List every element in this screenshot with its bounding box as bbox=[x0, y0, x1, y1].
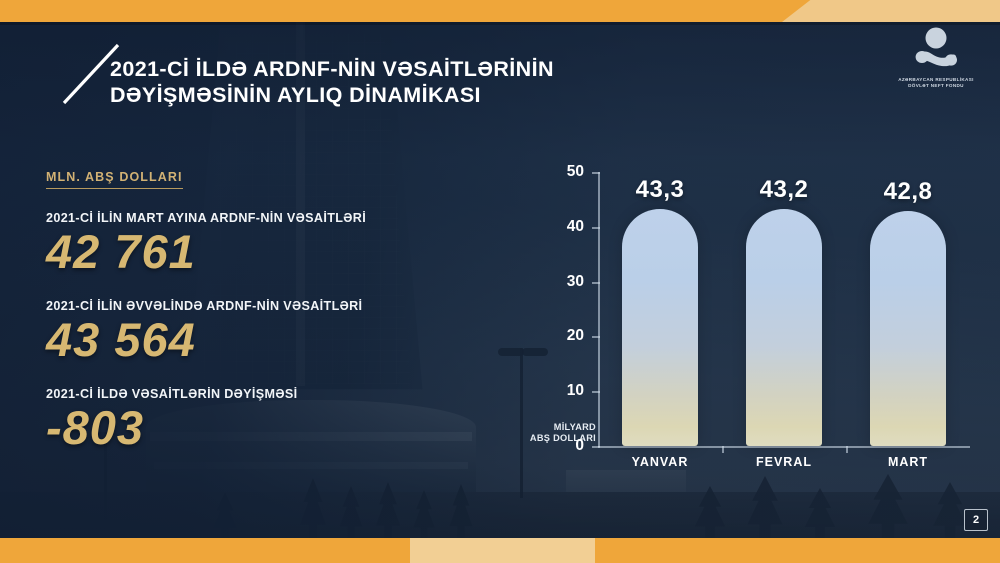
y-axis-tick bbox=[592, 227, 600, 229]
bar-column bbox=[870, 172, 946, 446]
x-axis-line bbox=[598, 446, 970, 448]
y-axis-line bbox=[598, 172, 600, 447]
top-bar-shadow bbox=[0, 22, 1000, 25]
x-axis-tick bbox=[722, 446, 724, 453]
page-title-line2: DƏYİŞMƏSİNİN AYLIQ DİNAMİKASI bbox=[110, 82, 610, 108]
logo-text: AZƏRBAYCAN RESPUBLİKASI DÖVLƏT NEFT FOND… bbox=[884, 77, 988, 90]
bottom-accent-bar bbox=[0, 538, 1000, 563]
bar-value-label: 43,3 bbox=[605, 176, 715, 204]
y-axis-tick-label: 0 bbox=[538, 437, 584, 455]
top-accent-bar-tan-segment bbox=[782, 0, 1000, 22]
bar bbox=[746, 209, 822, 446]
y-axis-tick-label: 10 bbox=[538, 382, 584, 400]
y-axis-tick-label: 20 bbox=[538, 327, 584, 345]
sofaz-emblem-icon bbox=[884, 26, 988, 70]
bar-value-label: 43,2 bbox=[729, 176, 839, 204]
stat-block: 2021-Cİ İLDƏ VƏSAİTLƏRİN DƏYİŞMƏSİ -803 bbox=[46, 387, 466, 453]
stat-value: 43 564 bbox=[46, 315, 466, 365]
stat-block: 2021-Cİ İLİN ƏVVƏLİNDƏ ARDNF-NİN VƏSAİTL… bbox=[46, 299, 466, 365]
page-number-badge: 2 bbox=[964, 509, 988, 531]
top-accent-bar bbox=[0, 0, 1000, 22]
stat-value: 42 761 bbox=[46, 227, 466, 277]
unit-label: MLN. ABŞ DOLLARI bbox=[46, 170, 183, 189]
x-axis-tick bbox=[846, 446, 848, 453]
bar-column bbox=[746, 172, 822, 446]
stat-label: 2021-Cİ İLİN ƏVVƏLİNDƏ ARDNF-NİN VƏSAİTL… bbox=[46, 299, 466, 313]
stat-value: -803 bbox=[46, 403, 466, 453]
slide: 2021-Cİ İLDƏ ARDNF-NİN VƏSAİTLƏRİNİN DƏY… bbox=[0, 0, 1000, 563]
y-axis-tick bbox=[592, 391, 600, 393]
logo-text-line2: DÖVLƏT NEFT FONDU bbox=[884, 83, 988, 89]
stat-label: 2021-Cİ İLDƏ VƏSAİTLƏRİN DƏYİŞMƏSİ bbox=[46, 387, 466, 401]
y-axis-caption-line1: MİLYARD bbox=[526, 422, 596, 433]
y-axis-tick bbox=[592, 282, 600, 284]
bar-chart: MİLYARD ABŞ DOLLARI 01020304050 43,3YANV… bbox=[530, 150, 970, 470]
bottom-accent-bar-tan-segment bbox=[410, 538, 595, 563]
bar bbox=[622, 209, 698, 446]
bar bbox=[870, 211, 946, 446]
stat-block: 2021-Cİ İLİN MART AYINA ARDNF-NİN VƏSAİT… bbox=[46, 211, 466, 277]
bar-value-label: 42,8 bbox=[853, 178, 963, 206]
y-axis-tick bbox=[592, 336, 600, 338]
x-axis-category-label: MART bbox=[848, 455, 968, 469]
x-axis-category-label: YANVAR bbox=[600, 455, 720, 469]
y-axis-tick bbox=[592, 172, 600, 174]
y-axis-tick bbox=[592, 446, 600, 448]
page-title: 2021-Cİ İLDƏ ARDNF-NİN VƏSAİTLƏRİNİN DƏY… bbox=[110, 56, 610, 108]
y-axis-tick-label: 40 bbox=[538, 218, 584, 236]
page-title-line1: 2021-Cİ İLDƏ ARDNF-NİN VƏSAİTLƏRİNİN bbox=[110, 56, 610, 82]
logo: AZƏRBAYCAN RESPUBLİKASI DÖVLƏT NEFT FOND… bbox=[884, 26, 988, 90]
stat-label: 2021-Cİ İLİN MART AYINA ARDNF-NİN VƏSAİT… bbox=[46, 211, 466, 225]
y-axis-tick-label: 30 bbox=[538, 273, 584, 291]
statistics-panel: MLN. ABŞ DOLLARI 2021-Cİ İLİN MART AYINA… bbox=[46, 168, 466, 453]
y-axis-tick-label: 50 bbox=[538, 163, 584, 181]
x-axis-category-label: FEVRAL bbox=[724, 455, 844, 469]
bar-column bbox=[622, 172, 698, 446]
